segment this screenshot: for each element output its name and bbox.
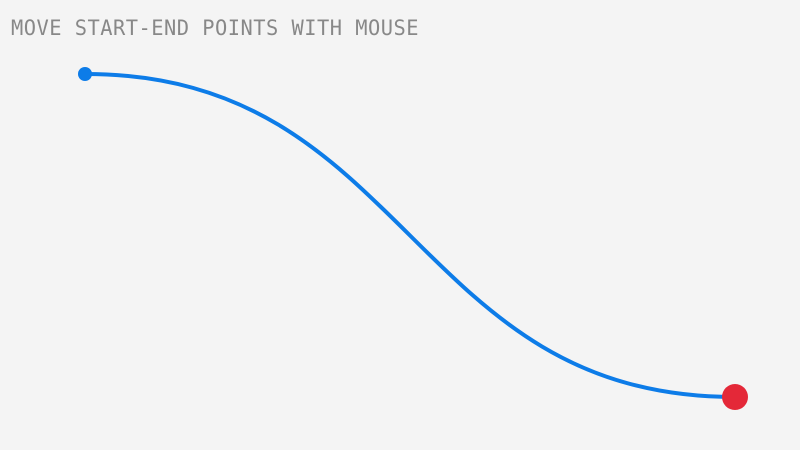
end-point-handle[interactable] bbox=[722, 384, 748, 410]
start-point-handle[interactable] bbox=[78, 67, 92, 81]
bezier-curve-path bbox=[85, 74, 735, 397]
page-title: MOVE START-END POINTS WITH MOUSE bbox=[11, 15, 419, 41]
drawing-canvas[interactable]: MOVE START-END POINTS WITH MOUSE bbox=[0, 0, 800, 450]
bezier-curve-demo-app: MOVE START-END POINTS WITH MOUSE bbox=[0, 0, 800, 450]
bezier-curve-canvas[interactable] bbox=[0, 0, 800, 450]
